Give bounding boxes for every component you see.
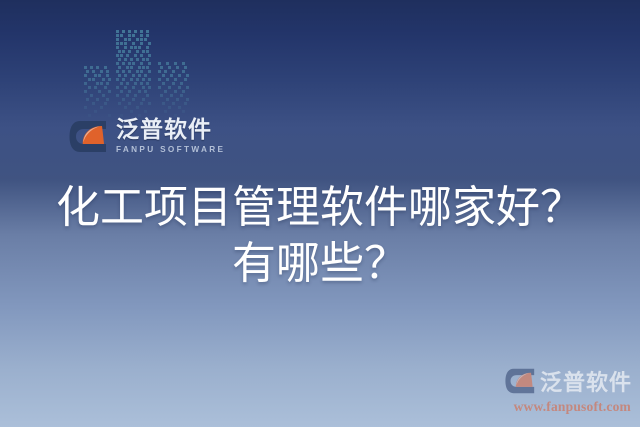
headline-line-1: 化工项目管理软件哪家好？: [18, 180, 622, 236]
promo-banner: 泛普软件 FANPU SOFTWARE 化工项目管理软件哪家好？ 有哪些？ 泛普…: [0, 0, 640, 427]
watermark-brand-row: 泛普软件: [505, 365, 632, 397]
page-title: 化工项目管理软件哪家好？ 有哪些？: [0, 180, 640, 292]
watermark: 泛普软件 www.fanpusoft.com: [505, 365, 632, 415]
brand-name-en: FANPU SOFTWARE: [116, 146, 225, 154]
watermark-url: www.fanpusoft.com: [514, 399, 631, 415]
headline-line-2: 有哪些？: [18, 236, 622, 292]
watermark-fanpu-logo-mark-icon: [505, 368, 535, 394]
pixel-skyline-icon: [78, 24, 194, 120]
brand-lockup: 泛普软件 FANPU SOFTWARE: [69, 119, 225, 154]
fanpu-logo-mark-icon: [69, 120, 107, 153]
watermark-brand-name-cn: 泛普软件: [540, 365, 632, 397]
brand-name-cn: 泛普软件: [116, 119, 225, 142]
